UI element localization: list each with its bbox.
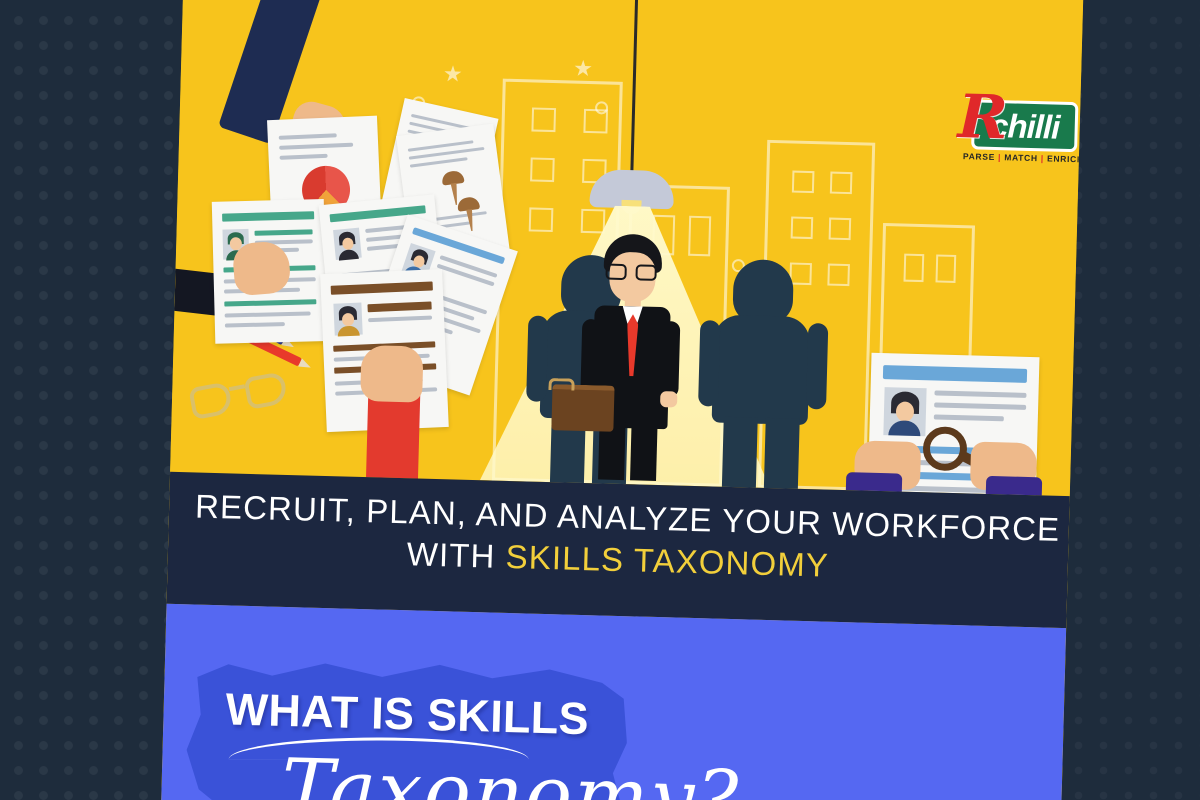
poster-title-accent: SKILLS TAXONOMY bbox=[505, 538, 829, 584]
section-heading-script: Taxonomy? bbox=[280, 743, 741, 800]
infographic-card: ★ ★ bbox=[161, 0, 1084, 800]
eyeglasses-icon bbox=[187, 363, 290, 426]
logo-tagline-parse: PARSE bbox=[963, 151, 995, 162]
logo-tagline-match: MATCH bbox=[1004, 152, 1038, 163]
section-panel-what-is: WHAT IS SKILLS Taxonomy? bbox=[161, 604, 1066, 800]
glasses-icon bbox=[605, 264, 659, 281]
logo-letter-r: R bbox=[957, 87, 1008, 148]
selected-candidate-figure bbox=[572, 233, 688, 476]
recruiter-hand-bottom bbox=[360, 345, 423, 403]
logo-tagline: PARSE | MATCH | ENRICH bbox=[963, 151, 1079, 164]
section-heading-line-1: WHAT IS SKILLS bbox=[225, 683, 590, 745]
briefcase-icon bbox=[551, 384, 614, 432]
hero-panel: ★ ★ bbox=[170, 0, 1083, 496]
logo-tagline-enrich: ENRICH bbox=[1047, 153, 1083, 164]
rchilli-logo[interactable]: chilli R PARSE | MATCH | ENRICH bbox=[957, 89, 1083, 174]
poster-title-prefix: WITH bbox=[406, 535, 506, 575]
candidate-silhouette-right bbox=[694, 258, 830, 481]
title-block: RECRUIT, PLAN, AND ANALYZE YOUR WORKFORC… bbox=[167, 486, 1069, 593]
dot-pattern-left bbox=[0, 0, 180, 800]
title-band: RECRUIT, PLAN, AND ANALYZE YOUR WORKFORC… bbox=[167, 472, 1070, 628]
magnifying-glass-icon bbox=[922, 426, 967, 471]
logo-tagline-sep-1: | bbox=[998, 152, 1001, 162]
logo-tagline-sep-2: | bbox=[1041, 153, 1044, 163]
